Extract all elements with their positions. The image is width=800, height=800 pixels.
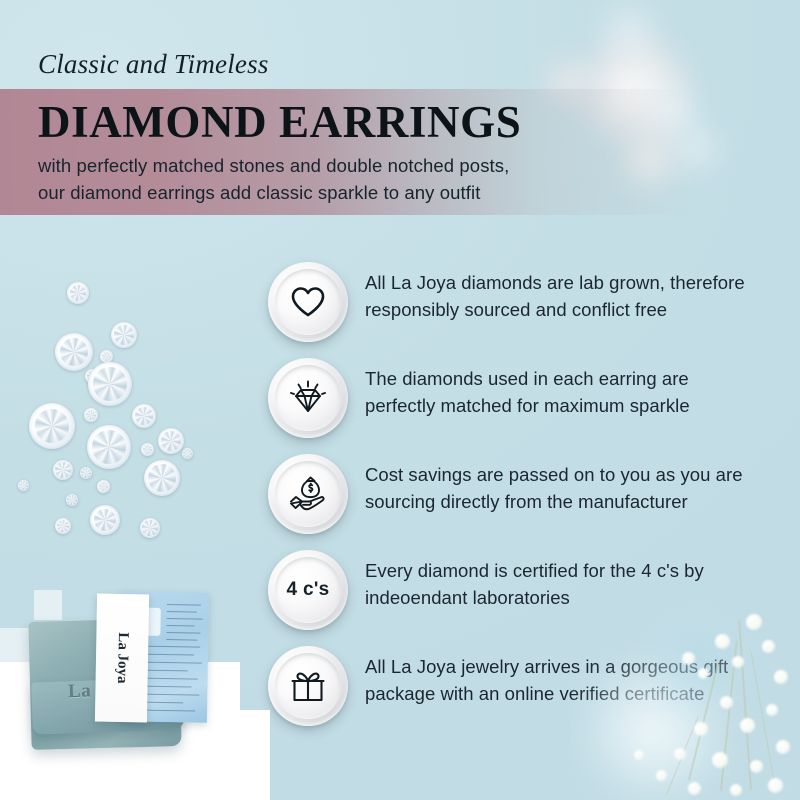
diamond-gem <box>84 408 98 422</box>
feature-line: responsibly sourced and conflict free <box>365 296 783 323</box>
floral-decoration <box>570 600 800 800</box>
diamond-gem <box>55 518 71 534</box>
certificate-text-line <box>167 625 195 626</box>
page-title: DIAMOND EARRINGS <box>38 96 521 148</box>
diamond-gem <box>158 428 184 454</box>
diamond-gem <box>66 494 78 506</box>
subtitle-line-2: our diamond earrings add classic sparkle… <box>38 179 509 206</box>
flower-bloom <box>688 782 701 795</box>
product-photo: La Joya La Joya <box>22 588 222 768</box>
diamond-gem <box>182 448 193 459</box>
diamond-gem <box>29 403 75 449</box>
product-infographic: Classic and Timeless DIAMOND EARRINGS wi… <box>0 0 800 800</box>
flower-bloom <box>712 752 728 768</box>
diamond-gem <box>144 460 180 496</box>
certificate-text-line <box>167 618 203 620</box>
feature-row: Cost savings are passed on to you as you… <box>268 454 788 550</box>
flower-bloom <box>776 740 790 754</box>
feature-row: All La Joya diamonds are lab grown, ther… <box>268 262 788 358</box>
feature-line: All La Joya diamonds are lab grown, ther… <box>365 269 783 296</box>
feature-badge[interactable] <box>268 262 348 342</box>
diamond-gem <box>97 480 110 493</box>
diamond-gem <box>55 333 93 371</box>
feature-text: The diamonds used in each earring are pe… <box>365 365 783 419</box>
diamond-gem <box>67 282 89 304</box>
feature-text: Cost savings are passed on to you as you… <box>365 461 783 515</box>
flower-bloom <box>768 778 783 793</box>
flower-bloom <box>740 718 755 733</box>
flower-bloom <box>634 750 644 760</box>
feature-line: perfectly matched for maximum sparkle <box>365 392 783 419</box>
flower-bloom <box>720 696 733 709</box>
diamond-gem <box>53 460 73 480</box>
flower-bloom <box>762 640 775 653</box>
diamond-gem <box>80 467 92 479</box>
feature-line: Cost savings are passed on to you as you… <box>365 461 783 488</box>
flower-bloom <box>730 784 742 796</box>
feature-badge[interactable]: 4 c's <box>268 550 348 630</box>
flower-bloom <box>732 656 744 668</box>
hand-holding-money-bag-icon <box>286 472 330 516</box>
certificate-text-line <box>166 632 200 634</box>
diamond-gem <box>132 404 156 428</box>
subtitle-line-1: with perfectly matched stones and double… <box>38 152 509 179</box>
certificate-text-line <box>166 639 197 641</box>
flower-bloom <box>715 634 730 649</box>
diamond-gem <box>111 322 137 348</box>
subtitle: with perfectly matched stones and double… <box>38 152 509 207</box>
heart-icon <box>288 282 328 322</box>
diamond-gem <box>140 518 160 538</box>
flower-bloom <box>698 668 709 679</box>
eyebrow-text: Classic and Timeless <box>38 49 269 80</box>
feature-line: sourcing directly from the manufacturer <box>365 488 783 515</box>
four-cs-text-icon: 4 c's <box>287 579 330 601</box>
diamond-gem <box>90 505 120 535</box>
brand-card-label: La Joya <box>113 632 131 684</box>
brand-card: La Joya <box>95 594 149 723</box>
feature-row: The diamonds used in each earring are pe… <box>268 358 788 454</box>
flower-bloom <box>750 760 763 773</box>
flower-bloom <box>682 652 695 665</box>
feature-badge[interactable] <box>268 358 348 438</box>
diamond-gem <box>141 443 154 456</box>
feature-badge[interactable] <box>268 454 348 534</box>
feature-badge[interactable] <box>268 646 348 726</box>
flower-bloom <box>774 670 788 684</box>
feature-text: All La Joya diamonds are lab grown, ther… <box>365 269 783 323</box>
flower-bloom <box>746 614 762 630</box>
diamond-gem <box>18 480 29 491</box>
certificate-text-line <box>167 604 201 606</box>
gift-box-icon <box>288 666 328 706</box>
diamond-gem <box>87 425 131 469</box>
flower-bloom <box>694 722 708 736</box>
flower-bloom <box>674 748 686 760</box>
feature-line: Every diamond is certified for the 4 c's… <box>365 557 783 584</box>
flower-bloom <box>766 704 778 716</box>
sparkling-diamond-icon <box>287 377 329 419</box>
feature-line: The diamonds used in each earring are <box>365 365 783 392</box>
flower-bloom <box>656 770 667 781</box>
diamond-gem <box>88 362 132 406</box>
certificate-text-line <box>167 611 197 613</box>
